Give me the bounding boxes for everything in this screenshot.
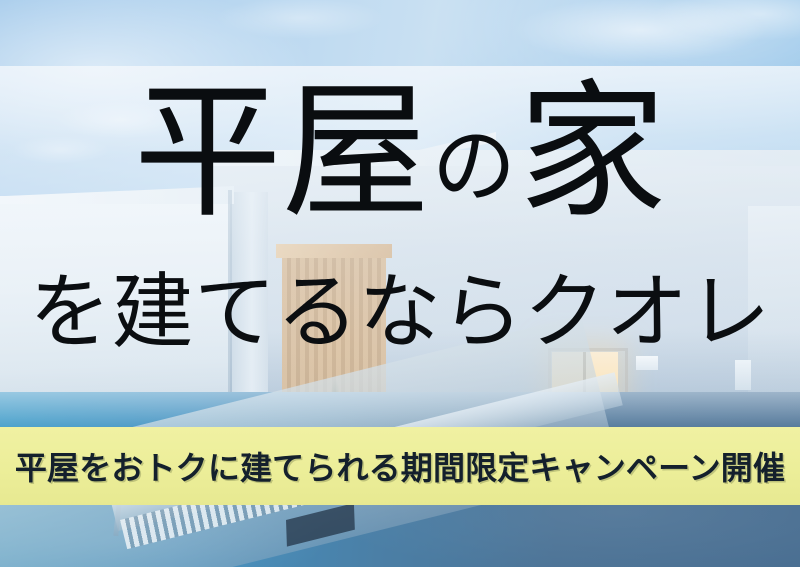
promo-banner: 平屋の家 を建てるならクオレ 平屋をおトクに建てられる期間限定キャンペーン開催 <box>0 0 800 567</box>
campaign-bar: 平屋をおトクに建てられる期間限定キャンペーン開催 <box>0 427 800 505</box>
headline-part-1: 平屋 <box>134 66 430 238</box>
headline-particle: の <box>432 117 516 215</box>
sub-headline: を建てるならクオレ <box>0 272 800 354</box>
headline-part-2: 家 <box>518 66 666 238</box>
right-window <box>735 360 751 390</box>
campaign-text: 平屋をおトクに建てられる期間限定キャンペーン開催 <box>15 443 785 489</box>
headline: 平屋の家 <box>0 78 800 226</box>
entry-header-beam <box>276 244 392 258</box>
